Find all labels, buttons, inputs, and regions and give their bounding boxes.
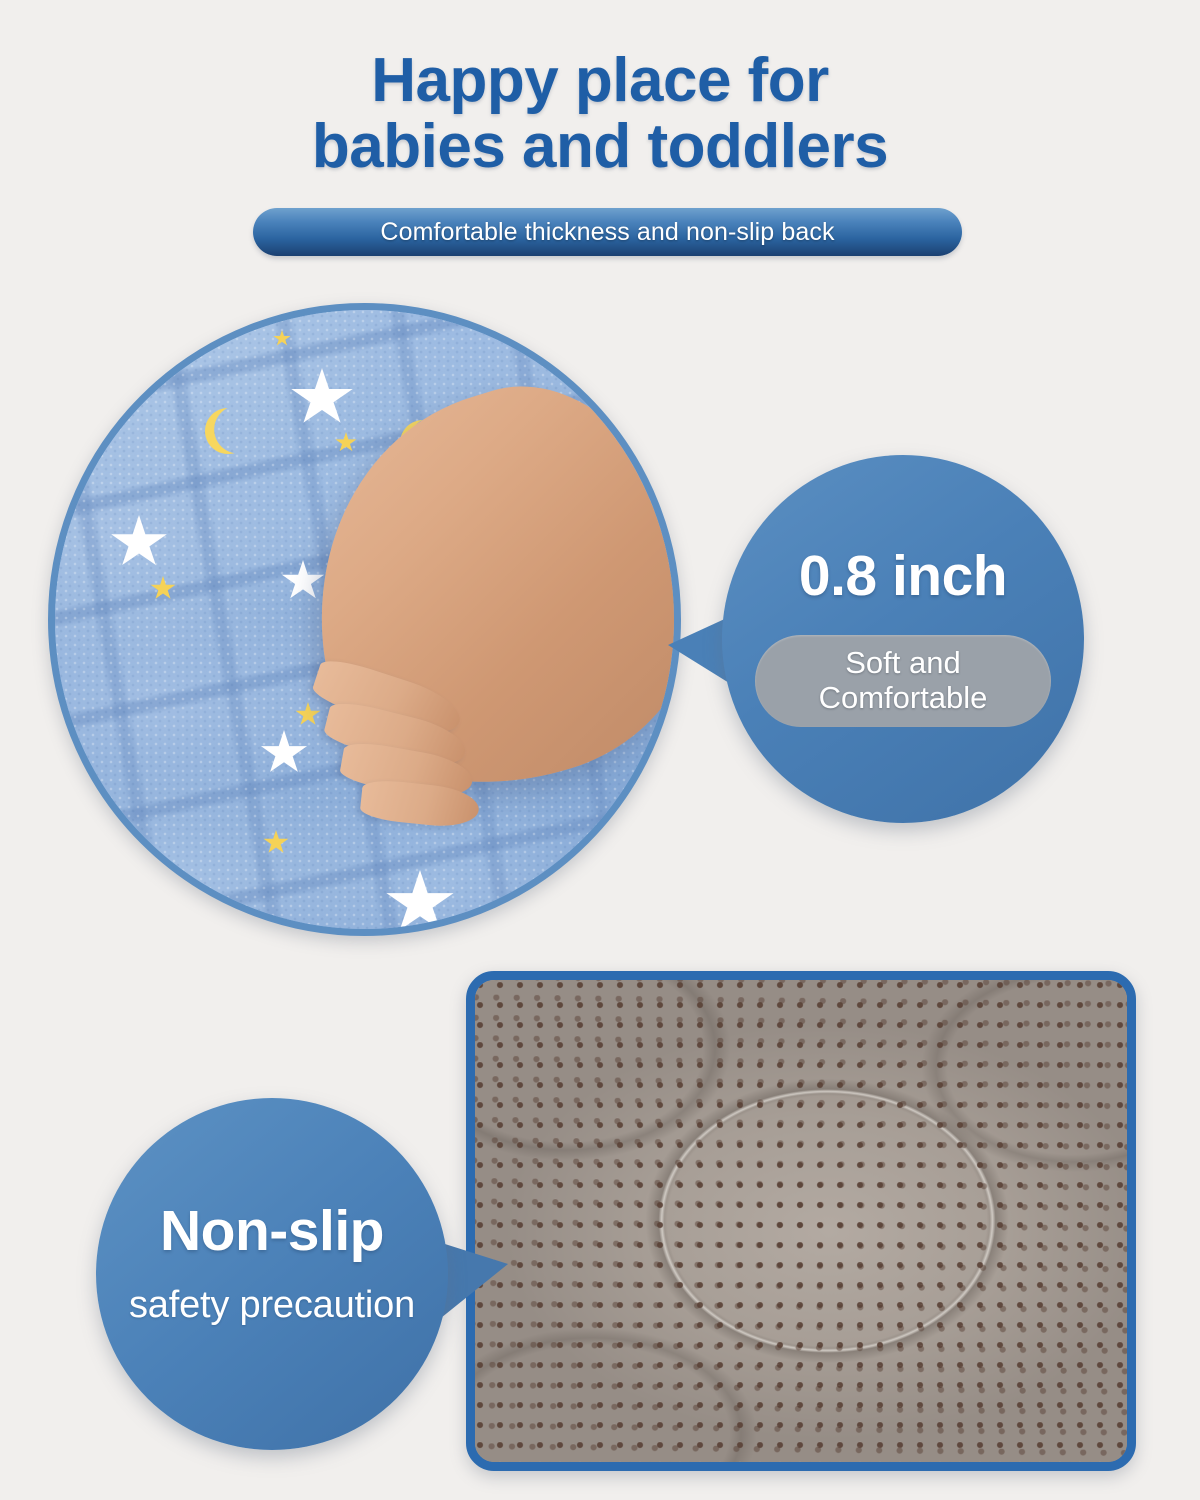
thickness-badge-line-1: Soft and [845, 646, 960, 681]
nonslip-callout: Non-slip safety precaution [96, 1098, 448, 1450]
thickness-badge: Soft and Comfortable [755, 635, 1051, 727]
callout-bubble [96, 1098, 448, 1450]
infographic-page: Happy place for babies and toddlers Comf… [0, 0, 1200, 1500]
thickness-badge-line-2: Comfortable [819, 681, 988, 716]
page-title-line-2: babies and toddlers [0, 114, 1200, 180]
nonslip-subtitle: safety precaution [96, 1284, 448, 1327]
thickness-callout: 0.8 inch Soft and Comfortable [722, 455, 1084, 823]
thickness-value: 0.8 inch [722, 543, 1084, 609]
page-title-line-1: Happy place for [371, 46, 829, 115]
subtitle-banner-label: Comfortable thickness and non-slip back [380, 218, 834, 247]
nonslip-title: Non-slip [96, 1198, 448, 1264]
nonslip-dot-texture-secondary [466, 972, 1136, 1471]
nonslip-backing-photo [466, 971, 1136, 1471]
page-title: Happy place for babies and toddlers [0, 48, 1200, 179]
mattress-top-photo [48, 303, 681, 936]
subtitle-banner: Comfortable thickness and non-slip back [253, 208, 962, 256]
